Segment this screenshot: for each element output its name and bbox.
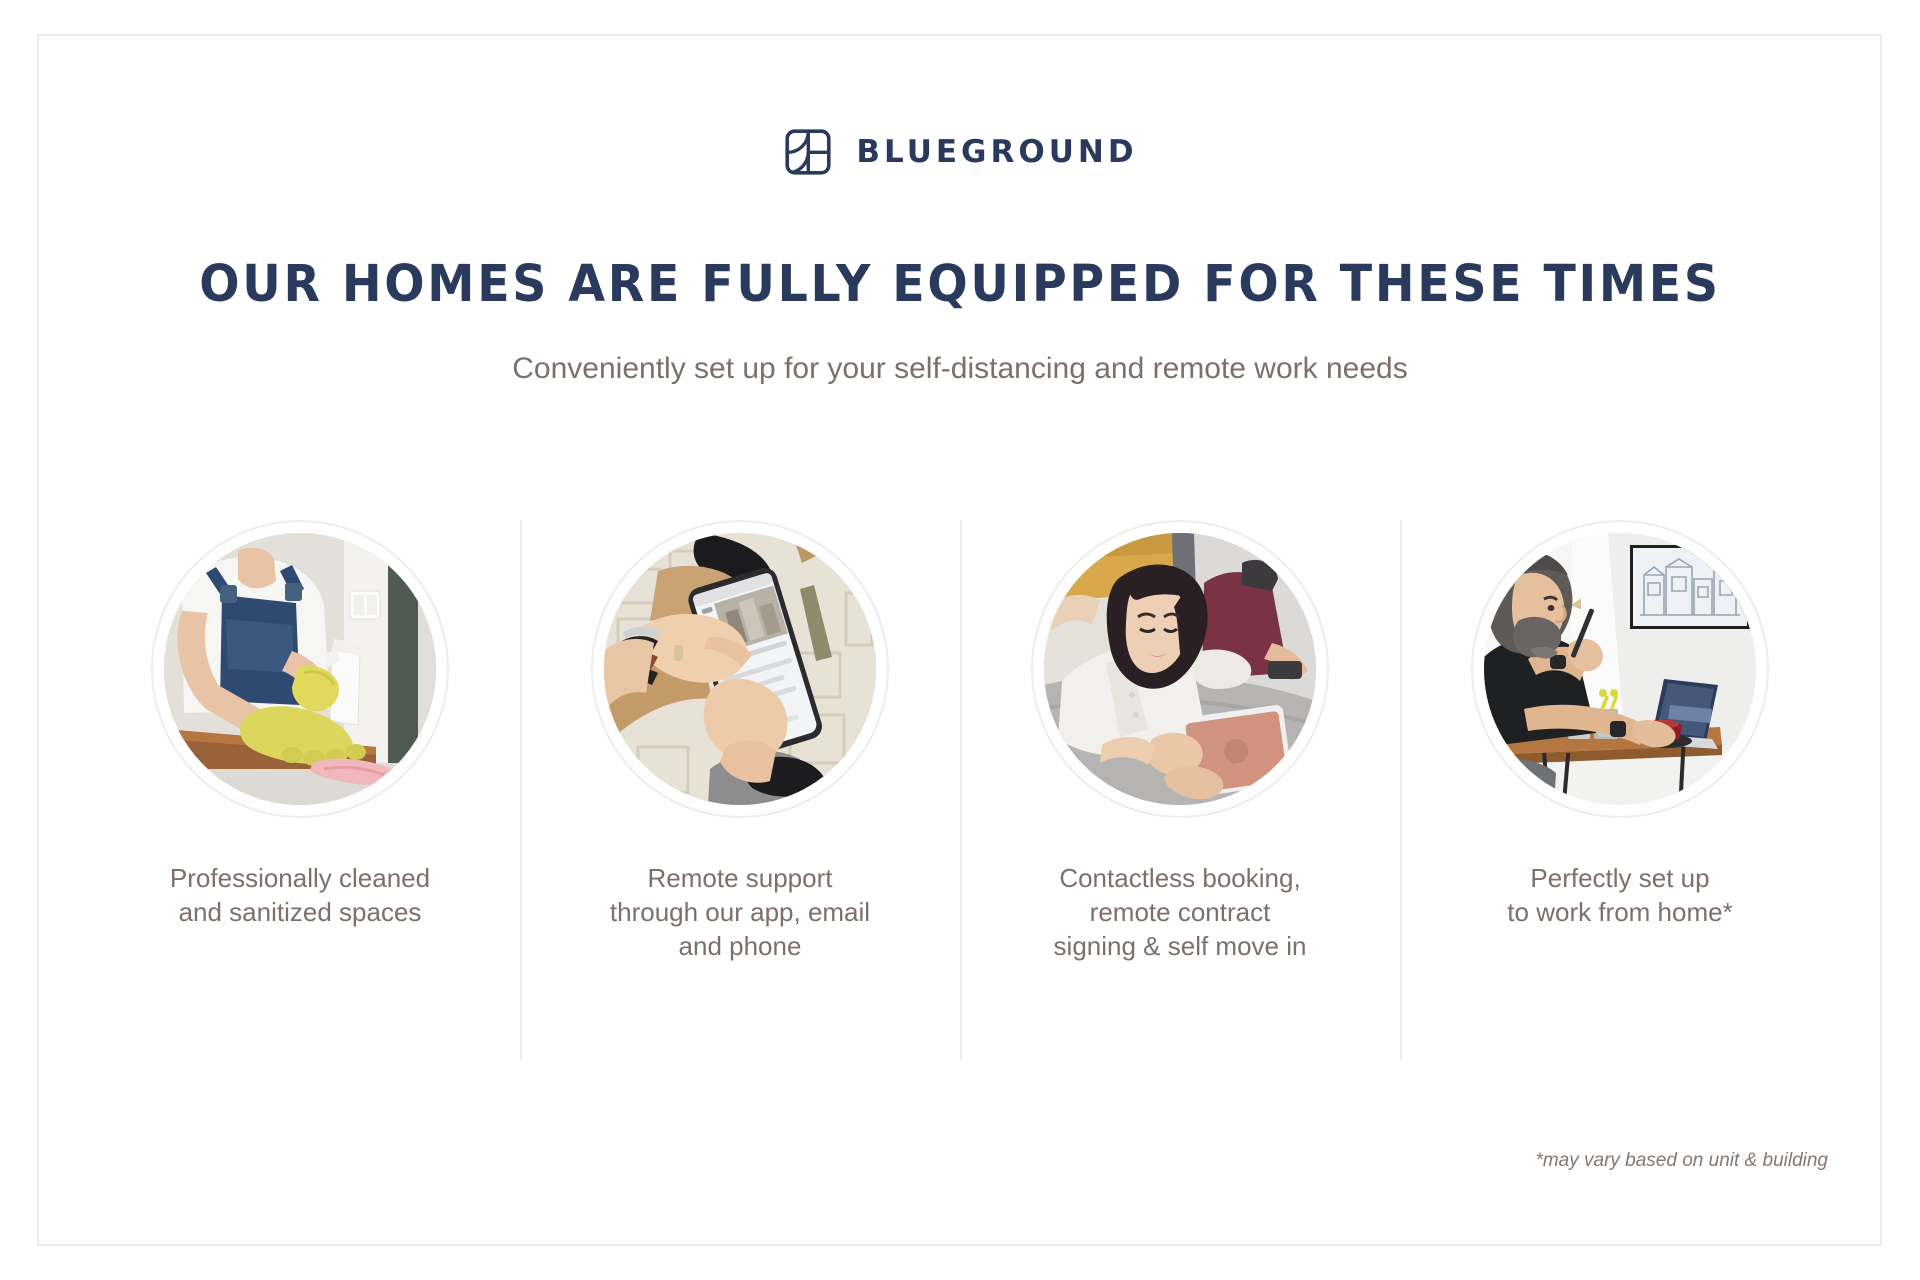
page-subtitle: Conveniently set up for your self-distan… — [0, 350, 1920, 388]
footnote-disclaimer: *may vary based on unit & building — [1535, 1150, 1828, 1172]
feature-caption: Remote support through our app, email an… — [610, 862, 870, 963]
feature-caption: Contactless booking, remote contract sig… — [1054, 862, 1307, 963]
feature-cleaning: Professionally cleaned and sanitized spa… — [80, 520, 520, 930]
feature-work-from-home: Perfectly set up to work from home* — [1400, 520, 1840, 930]
photo-professional-cleaning — [164, 533, 436, 805]
photo-ring — [591, 520, 889, 818]
feature-columns: Professionally cleaned and sanitized spa… — [80, 520, 1840, 1060]
feature-remote-support: Remote support through our app, email an… — [520, 520, 960, 963]
blueground-square-mark-icon — [782, 126, 834, 178]
brand-logo[interactable]: BLUEGROUND — [0, 126, 1920, 178]
feature-caption: Professionally cleaned and sanitized spa… — [170, 862, 430, 930]
marketing-page: BLUEGROUND OUR HOMES ARE FULLY EQUIPPED … — [0, 0, 1920, 1280]
brand-wordmark: BLUEGROUND — [856, 137, 1137, 168]
photo-ring — [1471, 520, 1769, 818]
feature-contactless-booking: Contactless booking, remote contract sig… — [960, 520, 1400, 963]
photo-ring — [151, 520, 449, 818]
photo-contactless-booking-tablet — [1044, 533, 1316, 805]
feature-caption: Perfectly set up to work from home* — [1507, 862, 1732, 930]
page-title: OUR HOMES ARE FULLY EQUIPPED FOR THESE T… — [67, 258, 1853, 312]
photo-ring — [1031, 520, 1329, 818]
photo-remote-support-phone — [604, 533, 876, 805]
photo-work-from-home-desk — [1484, 533, 1756, 805]
